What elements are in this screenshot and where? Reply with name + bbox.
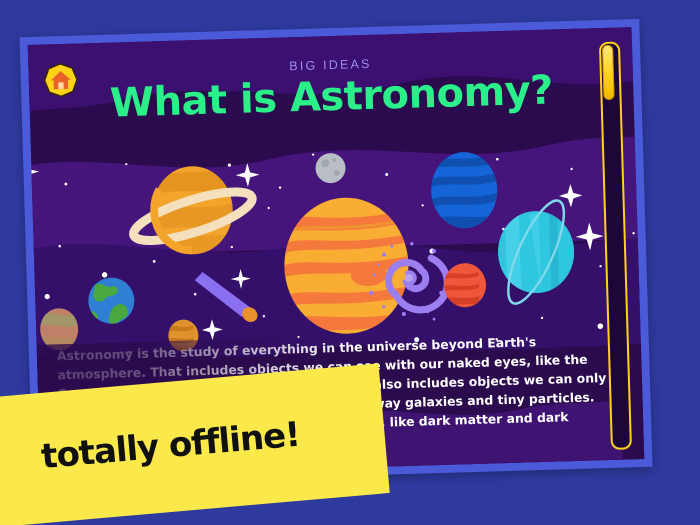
planet-mars — [442, 263, 486, 308]
comet — [195, 270, 261, 326]
moon — [315, 153, 346, 184]
planet-uranus — [495, 193, 578, 311]
planet-saturn — [99, 164, 258, 257]
planet-neptune — [429, 151, 503, 229]
scrollbar-thumb[interactable] — [602, 45, 615, 100]
offline-banner-label: totally offline! — [40, 415, 302, 477]
planet-earth — [86, 277, 135, 326]
screenshot-stage: BIG IDEAS What is Astronomy? — [0, 0, 700, 525]
